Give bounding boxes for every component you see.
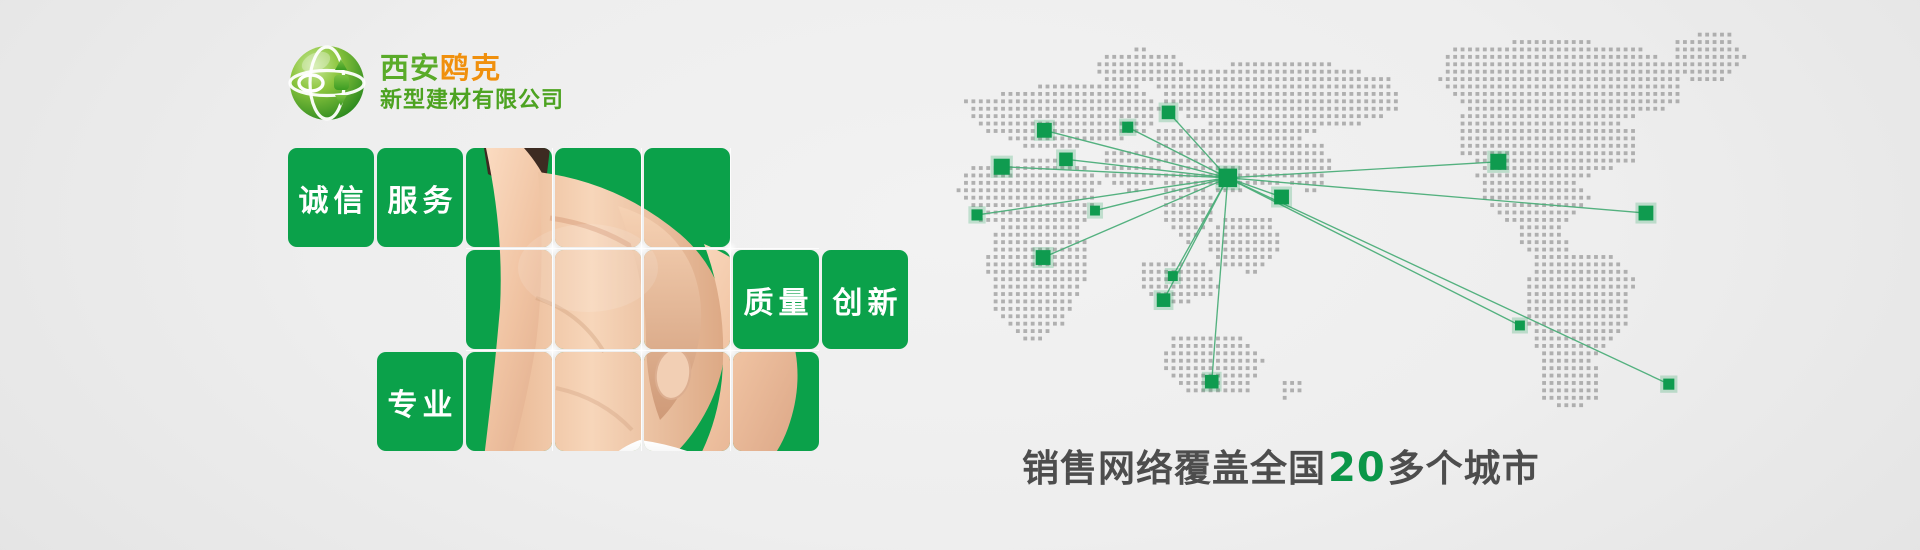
logo-city: 西安 xyxy=(380,51,440,85)
logo-brand: 鸥克 xyxy=(440,51,502,85)
grid-node-1-0 xyxy=(635,242,648,255)
tile-integrity[interactable]: 诚信 xyxy=(288,148,374,247)
tile-photo-r1c3[interactable] xyxy=(466,148,552,247)
grid-node-0-1 xyxy=(546,344,559,357)
logo-line-2: 新型建材有限公司 xyxy=(380,90,564,112)
tile-photo-r2c4[interactable] xyxy=(555,250,641,349)
marker-australia[interactable] xyxy=(1205,375,1219,389)
tile-professional[interactable]: 专业 xyxy=(377,352,463,451)
banner-stage: 西安鸥克 新型建材有限公司 xyxy=(0,0,1920,550)
map-dot-grid xyxy=(957,33,1746,407)
tile-photo-r2c3[interactable] xyxy=(466,250,552,349)
tile-integrity-label: 诚信 xyxy=(288,148,374,247)
tile-service-label: 服务 xyxy=(377,148,463,247)
tile-photo-r2c5[interactable] xyxy=(644,250,730,349)
marker-sea[interactable] xyxy=(1168,271,1178,281)
company-logo[interactable]: 西安鸥克 新型建材有限公司 xyxy=(288,44,564,122)
marker-europe-central[interactable] xyxy=(1122,122,1133,133)
tagline-suffix: 多个城市 xyxy=(1388,447,1540,490)
grid-line-vertical-0 xyxy=(552,148,553,451)
hub-china[interactable] xyxy=(1219,169,1238,188)
marker-indonesia[interactable] xyxy=(1157,293,1171,307)
sales-network-tagline: 销售网络覆盖全国20多个城市 xyxy=(1022,438,1540,492)
marker-japan[interactable] xyxy=(1274,190,1289,205)
marker-russia[interactable] xyxy=(1162,106,1176,120)
tile-photo-r3c4[interactable] xyxy=(555,352,641,451)
tile-photo-r3c5[interactable] xyxy=(644,352,730,451)
tile-photo-r3c3[interactable] xyxy=(466,352,552,451)
grid-line-vertical-1 xyxy=(641,148,642,451)
green-globe-emblem xyxy=(288,44,366,122)
logo-wordmark: 西安鸥克 新型建材有限公司 xyxy=(380,54,564,112)
marker-usa-east[interactable] xyxy=(1490,154,1506,170)
marker-samerica-s[interactable] xyxy=(1663,379,1674,390)
tile-photo-r1c4[interactable] xyxy=(555,148,641,247)
tagline-number: 20 xyxy=(1326,445,1388,491)
connection-line-11 xyxy=(1212,178,1228,382)
tile-photo-r1c5[interactable] xyxy=(644,148,730,247)
marker-mideast[interactable] xyxy=(1059,153,1073,167)
marker-africa-central[interactable] xyxy=(1036,250,1051,265)
grid-line-vertical-2 xyxy=(730,148,731,451)
logo-line-1: 西安鸥克 xyxy=(380,54,564,83)
marker-africa-nw[interactable] xyxy=(971,209,982,220)
dotted-world-map xyxy=(735,8,1875,428)
marker-africa-ne[interactable] xyxy=(1090,206,1100,216)
tile-service[interactable]: 服务 xyxy=(377,148,463,247)
marker-europe-west[interactable] xyxy=(1037,123,1052,138)
grid-node-1-1 xyxy=(635,344,648,357)
tile-professional-label: 专业 xyxy=(377,352,463,451)
marker-samerica-n[interactable] xyxy=(1515,321,1525,331)
marker-spain[interactable] xyxy=(994,159,1010,175)
tagline-prefix: 销售网络覆盖全国 xyxy=(1022,447,1326,490)
grid-node-0-0 xyxy=(546,242,559,255)
marker-atlantic-e[interactable] xyxy=(1639,206,1654,221)
